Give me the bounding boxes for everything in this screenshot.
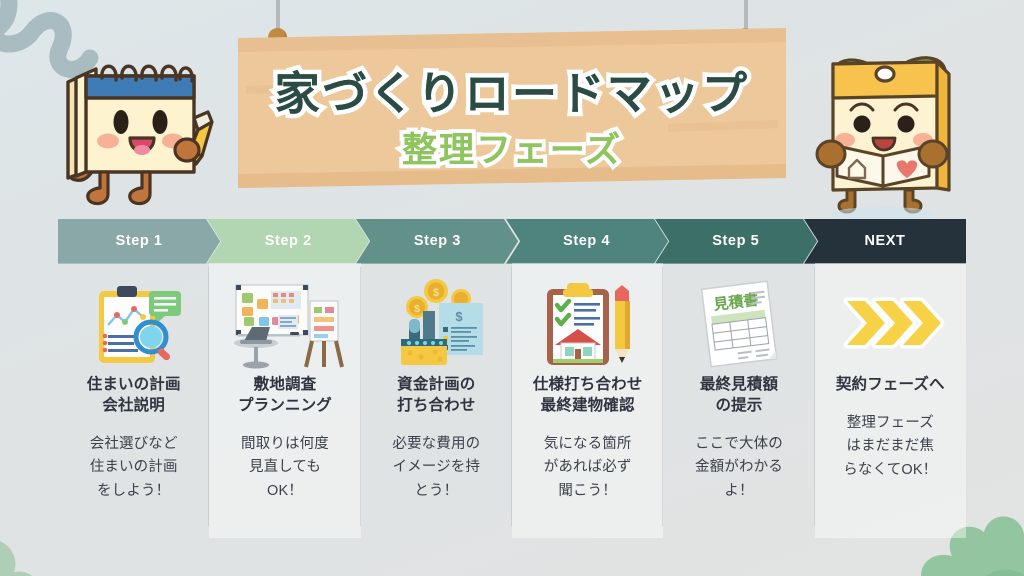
whiteboard-laptop-easel-icon <box>226 277 344 369</box>
step-chevron-3[interactable]: Step 3 <box>356 219 518 263</box>
svg-text:$: $ <box>456 309 464 324</box>
step-chevron-5[interactable]: Step 5 <box>655 219 817 263</box>
column-heading: 仕様打ち合わせ最終建物確認 <box>533 375 643 417</box>
step-progress-bar: Step 1 Step 2 Step 3 Step 4 Step 5 NEXT <box>58 219 966 263</box>
roadmap-column-4[interactable]: 仕様打ち合わせ最終建物確認 気になる箇所 があれば必ず 聞こう！ <box>512 263 663 538</box>
column-heading: 契約フェーズへ <box>836 375 945 396</box>
column-body: 間取りは何度 見直しても OK！ <box>241 433 329 503</box>
column-body: ここで大体の 金額がわかる よ！ <box>695 433 783 503</box>
column-body: 会社選びなど 住まいの計画 をしよう！ <box>90 433 178 503</box>
roadmap-column-3[interactable]: $ $ $ 資金計画の打ち合わせ 必要な費用の <box>361 263 512 538</box>
roadmap-column-2[interactable]: 敷地調査プランニング 間取りは何度 見直しても OK！ <box>209 263 360 538</box>
step-label: NEXT <box>864 233 905 249</box>
step-label: Step 4 <box>563 233 610 249</box>
roadmap-column-5[interactable]: 見積書 最終見積額の提示 ここで大体の 金額がわかる よ！ <box>663 263 814 538</box>
triple-chevron-right-icon <box>831 277 949 369</box>
coins-document-card-icon: $ $ $ <box>377 277 495 369</box>
column-body: 整理フェーズ はまだまだ焦 らなくてOK！ <box>843 412 937 482</box>
roadmap-column-next[interactable]: 契約フェーズへ 整理フェーズ はまだまだ焦 らなくてOK！ <box>815 263 966 538</box>
roadmap-column-1[interactable]: 住まいの計画会社説明 会社選びなど 住まいの計画 をしよう！ <box>58 263 209 538</box>
column-body: 必要な費用の イメージを持 とう！ <box>392 433 480 503</box>
column-heading: 住まいの計画会社説明 <box>87 375 181 417</box>
notepad-mascot <box>46 38 221 223</box>
step-chevron-4[interactable]: Step 4 <box>506 219 668 263</box>
svg-text:$: $ <box>415 304 421 315</box>
banner-subtitle: 整理フェーズ <box>238 122 786 173</box>
clipboard-chart-magnifier-icon <box>75 277 193 369</box>
tag-book-mascot <box>795 18 980 223</box>
roadmap-columns: 住まいの計画会社説明 会社選びなど 住まいの計画 をしよう！ <box>58 263 966 538</box>
step-chevron-2[interactable]: Step 2 <box>207 219 369 263</box>
step-chevron-1[interactable]: Step 1 <box>58 219 220 263</box>
step-label: Step 2 <box>265 233 312 249</box>
step-label: Step 1 <box>116 233 163 249</box>
title-banner: 家づくりロードマップ 家づくりロードマップ 整理フェーズ 整理フェーズ <box>238 0 786 205</box>
step-label: Step 3 <box>414 233 461 249</box>
step-chevron-next[interactable]: NEXT <box>804 219 966 263</box>
column-heading: 資金計画の打ち合わせ <box>397 375 475 417</box>
column-heading: 最終見積額の提示 <box>700 375 778 417</box>
banner-title: 家づくりロードマップ <box>238 57 786 122</box>
column-heading: 敷地調査プランニング <box>238 375 332 417</box>
step-label: Step 5 <box>712 233 759 249</box>
clipboard-house-pencil-icon <box>529 277 647 369</box>
svg-text:$: $ <box>433 287 439 299</box>
quotation-document-icon: 見積書 <box>680 277 798 369</box>
column-body: 気になる箇所 があれば必ず 聞こう！ <box>544 433 632 503</box>
